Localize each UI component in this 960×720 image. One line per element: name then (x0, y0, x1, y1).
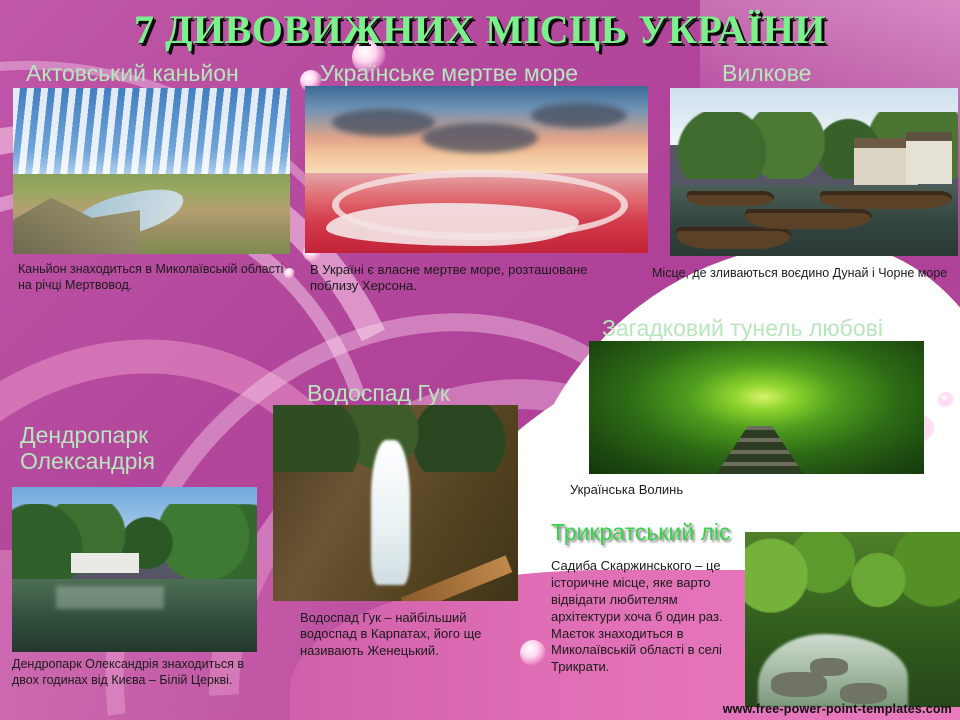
presentation-slide: 7 ДИВОВИЖНИХ МІСЦЬ УКРАЇНИ Актовський ка… (0, 0, 960, 720)
caption-huk-waterfall: Водоспад Гук – найбільший водоспад в Кар… (300, 610, 515, 659)
photo-aktovsky-canyon (13, 88, 290, 254)
heading-tunnel-of-love: Загадковий тунель любові (602, 315, 883, 342)
watermark-url: www.free-power-point-templates.com (723, 702, 952, 716)
caption-tunnel-of-love: Українська Волинь (570, 482, 683, 498)
caption-vylkove: Місце, де зливаються воєдино Дунай і Чор… (652, 266, 952, 282)
heading-vylkove: Вилкове (722, 60, 811, 87)
caption-dendropark-oleksandriya: Дендропарк Олександрія знаходиться в дво… (12, 657, 256, 688)
heading-trykraty-forest: Трикратський ліс (551, 519, 730, 546)
photo-vylkove (670, 88, 958, 256)
bubble-icon (938, 392, 954, 408)
photo-trykraty-forest (745, 532, 960, 707)
photo-dendropark-oleksandriya (12, 487, 257, 652)
heading-ukrainian-dead-sea: Українське мертве море (320, 60, 578, 87)
bubble-icon (520, 640, 546, 666)
photo-huk-waterfall (273, 405, 518, 601)
caption-ukrainian-dead-sea: В Україні є власне мертве море, розташов… (310, 262, 610, 295)
heading-huk-waterfall: Водоспад Гук (307, 380, 450, 407)
photo-tunnel-of-love (589, 341, 924, 474)
caption-trykraty-forest: Садиба Скаржинського – це історичне місц… (551, 558, 731, 676)
heading-dendropark-line2: Олександрія (20, 448, 155, 475)
heading-dendropark-line1: Дендропарк (20, 422, 148, 449)
page-title: 7 ДИВОВИЖНИХ МІСЦЬ УКРАЇНИ (0, 6, 960, 53)
caption-aktovsky-canyon: Каньйон знаходиться в Миколаївській обла… (18, 262, 286, 293)
heading-aktovsky-canyon: Актовський каньйон (26, 60, 239, 87)
photo-ukrainian-dead-sea (305, 86, 648, 253)
